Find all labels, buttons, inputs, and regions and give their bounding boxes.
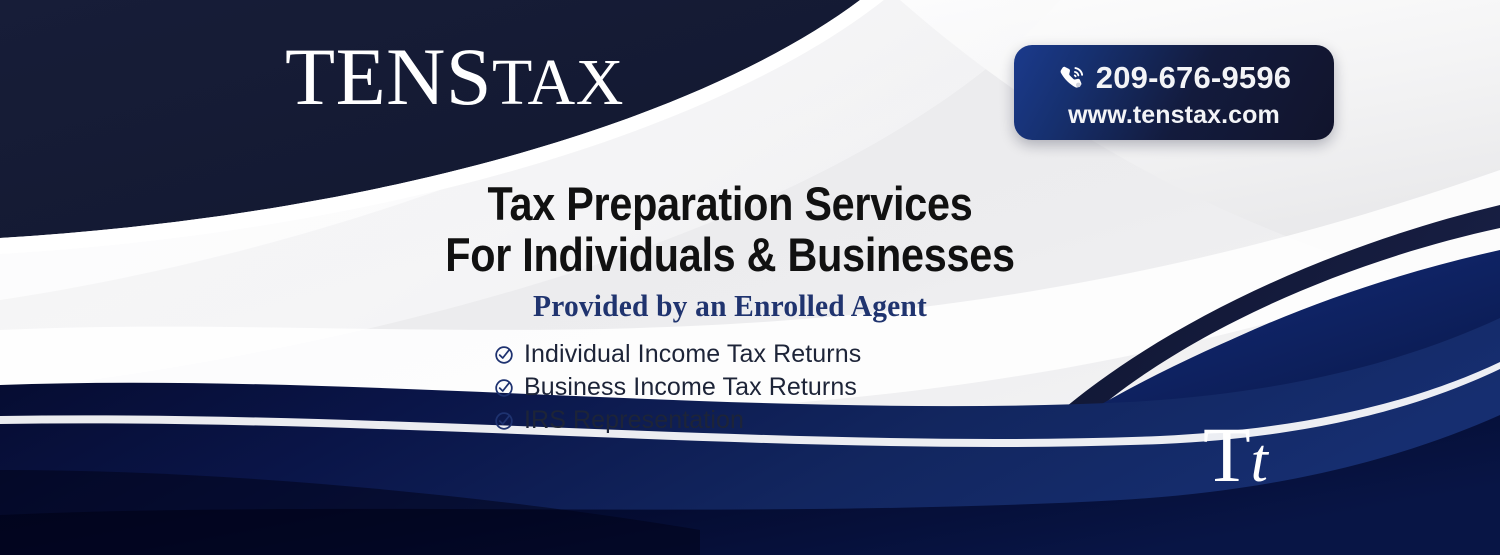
website-url[interactable]: www.tenstax.com: [1030, 100, 1318, 130]
service-label: Business Income Tax Returns: [524, 372, 857, 403]
service-label: Individual Income Tax Returns: [524, 339, 861, 370]
headline-line-1: Tax Preparation Services: [88, 178, 1373, 229]
list-item: Individual Income Tax Returns: [494, 338, 861, 371]
headline-line-2: For Individuals & Businesses: [88, 229, 1373, 280]
tagline: Provided by an Enrolled Agent: [37, 288, 1424, 324]
list-item: IRS Representation: [494, 404, 861, 437]
headline-block: Tax Preparation Services For Individuals…: [0, 178, 1460, 324]
wordmark-primary: TENS: [285, 31, 492, 122]
contact-badge[interactable]: 209-676-9596 www.tenstax.com: [1014, 45, 1334, 140]
check-circle-icon: [494, 411, 514, 431]
services-list: Individual Income Tax Returns Business I…: [494, 338, 861, 437]
check-circle-icon: [494, 345, 514, 365]
wordmark-secondary: TAX: [492, 46, 624, 119]
service-label: IRS Representation: [524, 405, 744, 436]
phone-call-icon: [1057, 63, 1087, 93]
phone-row[interactable]: 209-676-9596: [1030, 57, 1318, 99]
monogram-lower: t: [1251, 427, 1268, 495]
list-item: Business Income Tax Returns: [494, 371, 861, 404]
brand-monogram: Tt: [1203, 412, 1268, 504]
phone-number[interactable]: 209-676-9596: [1096, 61, 1291, 95]
check-circle-icon: [494, 378, 514, 398]
brand-wordmark: TENSTAX: [285, 31, 755, 123]
monogram-upper: T: [1203, 411, 1251, 498]
tenstax-banner: TENSTAX 209-676-9596 www.tenstax.com Tax…: [0, 0, 1500, 555]
